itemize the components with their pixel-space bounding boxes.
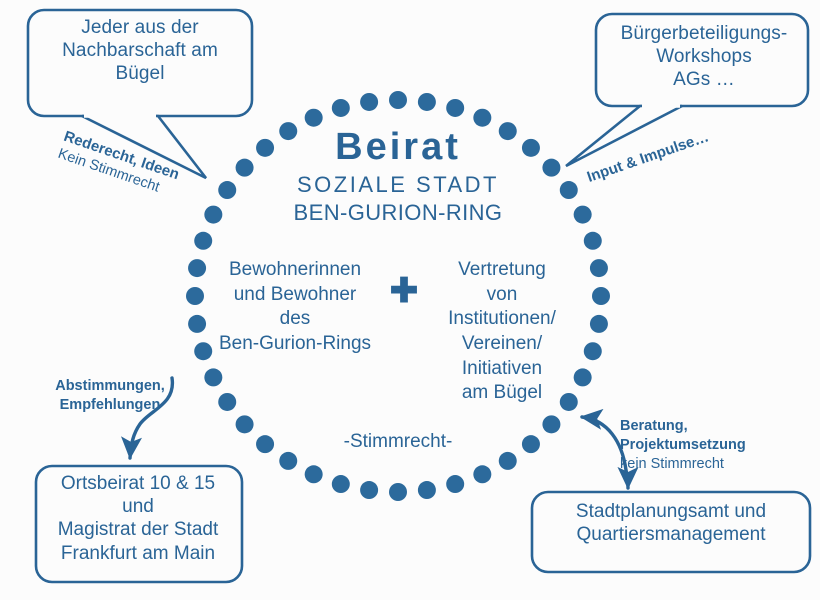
ring-dot bbox=[584, 232, 602, 250]
ring-dot bbox=[236, 415, 254, 433]
ring-dot bbox=[522, 435, 540, 453]
ring-column-institutions: Vertretung von Institutionen/ Vereinen/ … bbox=[418, 258, 586, 406]
box-text-bottom-left: Ortsbeirat 10 & 15 und Magistrat der Sta… bbox=[36, 472, 240, 565]
bubble-text-top-right: Bürgerbeteiligungs- Workshops AGs … bbox=[604, 22, 804, 92]
ring-dot bbox=[574, 206, 592, 224]
ring-dot bbox=[560, 181, 578, 199]
ring-dot bbox=[204, 368, 222, 386]
annotation-beratung: Beratung, Projektumsetzung kein Stimmrec… bbox=[620, 398, 800, 492]
ring-dot bbox=[360, 481, 378, 499]
ring-dot bbox=[418, 481, 436, 499]
ring-footer-note: -Stimmrecht- bbox=[318, 430, 478, 453]
ring-dot bbox=[473, 465, 491, 483]
ring-dot bbox=[592, 287, 610, 305]
ring-dot bbox=[305, 465, 323, 483]
ring-subtitle-soziale-stadt: SOZIALE STADT bbox=[248, 172, 548, 199]
ring-dot bbox=[418, 93, 436, 111]
diagram-canvas: Jeder aus der Nachbarschaft am Bügel Bür… bbox=[0, 0, 820, 600]
ring-dot bbox=[542, 415, 560, 433]
annotation-beratung-bold: Beratung, Projektumsetzung bbox=[620, 418, 746, 453]
ring-dot bbox=[360, 93, 378, 111]
ring-dot bbox=[256, 435, 274, 453]
bubble-text-top-left: Jeder aus der Nachbarschaft am Bügel bbox=[34, 16, 246, 86]
ring-dot bbox=[446, 99, 464, 117]
ring-dot bbox=[188, 259, 206, 277]
ring-dot bbox=[188, 315, 206, 333]
annotation-beratung-sub: kein Stimmrecht bbox=[620, 455, 800, 474]
ring-dot bbox=[332, 475, 350, 493]
ring-subtitle-ben-gurion-ring: BEN-GURION-RING bbox=[248, 200, 548, 227]
ring-dot bbox=[218, 393, 236, 411]
ring-dot bbox=[389, 483, 407, 501]
ring-dot bbox=[499, 452, 517, 470]
ring-dot bbox=[332, 99, 350, 117]
ring-column-residents: Bewohnerinnen und Bewohner des Ben-Gurio… bbox=[206, 258, 384, 357]
box-text-bottom-right: Stadtplanungsamt und Quartiersmanagement bbox=[534, 500, 808, 546]
ring-dot bbox=[389, 91, 407, 109]
annotation-abstimmungen-label: Abstimmungen, Empfehlungen bbox=[55, 378, 165, 413]
ring-dot bbox=[279, 452, 297, 470]
ring-dot bbox=[590, 315, 608, 333]
ring-dot bbox=[186, 287, 204, 305]
ring-dot bbox=[446, 475, 464, 493]
ring-dot bbox=[584, 342, 602, 360]
ring-dot bbox=[590, 259, 608, 277]
ring-title: Beirat bbox=[248, 124, 548, 170]
annotation-abstimmungen: Abstimmungen, Empfehlungen bbox=[30, 358, 190, 415]
